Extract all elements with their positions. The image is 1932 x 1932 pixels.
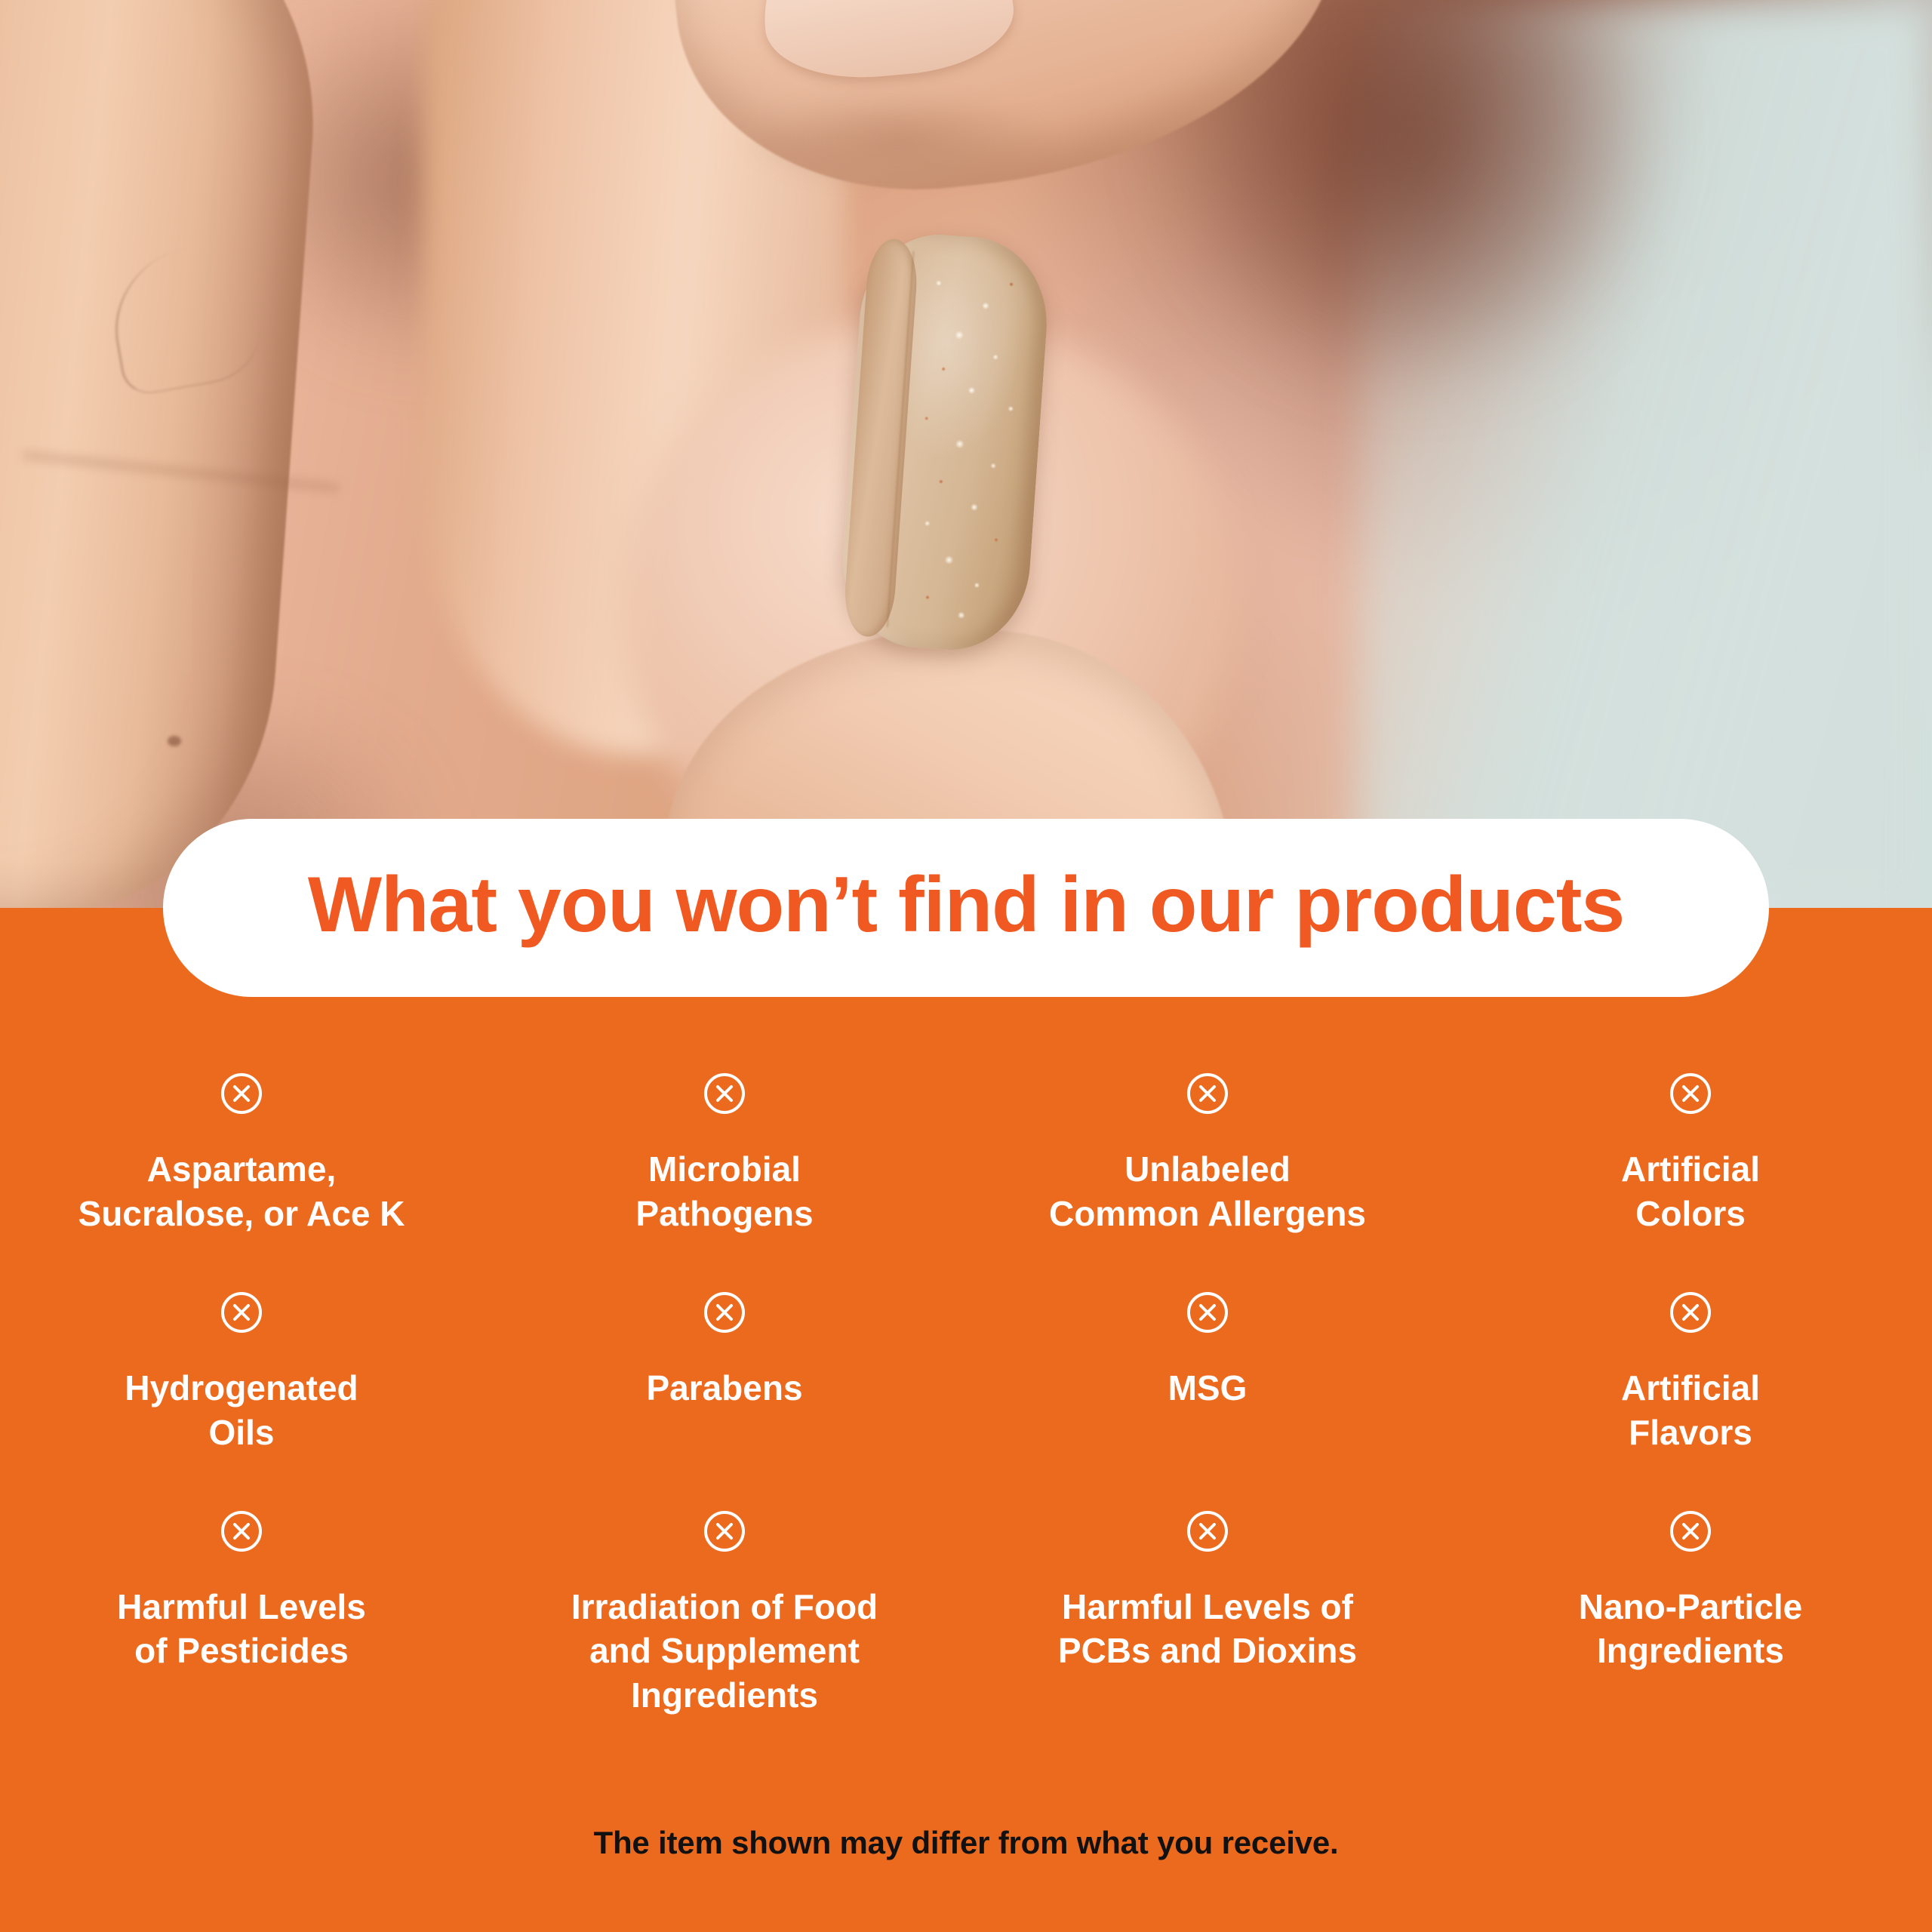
- excluded-item-label: Hydrogenated Oils: [125, 1366, 358, 1455]
- hero-photo: [0, 0, 1932, 913]
- circle-x-icon: [1669, 1509, 1712, 1553]
- circle-x-icon: [1186, 1509, 1229, 1553]
- infographic-canvas: What you won’t find in our products Aspa…: [0, 0, 1932, 1932]
- finger-mole: [168, 736, 181, 746]
- excluded-item-label: Unlabeled Common Allergens: [1049, 1147, 1366, 1236]
- excluded-item: Artificial Flavors: [1449, 1291, 1932, 1455]
- excluded-item-label: Parabens: [646, 1366, 802, 1411]
- circle-x-icon: [1669, 1072, 1712, 1115]
- excluded-item: Parabens: [483, 1291, 966, 1455]
- excluded-item-label: Harmful Levels of Pesticides: [117, 1585, 366, 1674]
- excluded-item: Nano-Particle Ingredients: [1449, 1509, 1932, 1718]
- excluded-item-label: Artificial Colors: [1621, 1147, 1760, 1236]
- excluded-item-label: Irradiation of Food and Supplement Ingre…: [571, 1585, 878, 1718]
- excluded-item-label: Microbial Pathogens: [635, 1147, 813, 1236]
- thumb-contact-shadow: [740, 91, 1057, 189]
- circle-x-icon: [220, 1072, 263, 1115]
- circle-x-icon: [1186, 1291, 1229, 1334]
- excluded-item: Hydrogenated Oils: [0, 1291, 483, 1455]
- circle-x-icon: [703, 1291, 746, 1334]
- circle-x-icon: [703, 1509, 746, 1553]
- excluded-item: Microbial Pathogens: [483, 1072, 966, 1236]
- page-title-emphasis: won’t: [676, 861, 877, 949]
- page-title-part1: What you: [308, 861, 676, 949]
- page-title: What you won’t find in our products: [308, 866, 1624, 944]
- excluded-item-label: Aspartame, Sucralose, or Ace K: [78, 1147, 405, 1236]
- excluded-item: Aspartame, Sucralose, or Ace K: [0, 1072, 483, 1236]
- circle-x-icon: [1669, 1291, 1712, 1334]
- page-title-part2: find in our products: [877, 861, 1624, 949]
- excluded-ingredients-grid: Aspartame, Sucralose, or Ace KMicrobial …: [0, 1072, 1932, 1718]
- excluded-item: Unlabeled Common Allergens: [966, 1072, 1449, 1236]
- circle-x-icon: [1186, 1072, 1229, 1115]
- excluded-item: Harmful Levels of Pesticides: [0, 1509, 483, 1718]
- excluded-item-label: Nano-Particle Ingredients: [1579, 1585, 1803, 1674]
- excluded-item-label: MSG: [1168, 1366, 1247, 1411]
- excluded-item-label: Harmful Levels of PCBs and Dioxins: [1058, 1585, 1357, 1674]
- circle-x-icon: [220, 1291, 263, 1334]
- headline-pill: What you won’t find in our products: [163, 819, 1769, 997]
- circle-x-icon: [220, 1509, 263, 1553]
- circle-x-icon: [703, 1072, 746, 1115]
- excluded-item: Irradiation of Food and Supplement Ingre…: [483, 1509, 966, 1718]
- disclaimer-text: The item shown may differ from what you …: [0, 1825, 1932, 1861]
- excluded-item: Artificial Colors: [1449, 1072, 1932, 1236]
- excluded-item: MSG: [966, 1291, 1449, 1455]
- tablet-icon: [837, 229, 1053, 655]
- excluded-item-label: Artificial Flavors: [1621, 1366, 1760, 1455]
- excluded-item: Harmful Levels of PCBs and Dioxins: [966, 1509, 1449, 1718]
